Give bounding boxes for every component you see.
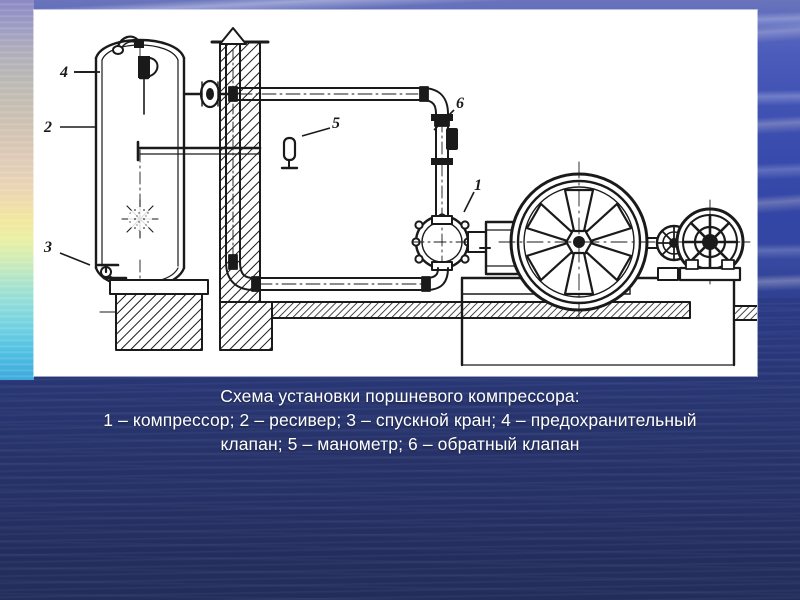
callout-3: 3 <box>43 239 52 256</box>
caption-line-3: клапан; 5 – манометр; 6 – обратный клапа… <box>0 432 800 456</box>
tank-pedestal <box>100 280 208 350</box>
compressor-installation-drawing: 4 2 3 5 6 1 <box>34 10 757 376</box>
callout-6: 6 <box>456 95 464 112</box>
floor-slab <box>260 302 690 318</box>
pressure-gauge-5 <box>282 138 297 168</box>
caption-line-1: Схема установки поршневого компрессора: <box>0 384 800 408</box>
callout-4: 4 <box>59 64 68 81</box>
foundation-wall-lower <box>220 302 272 350</box>
drain-cock-3 <box>98 265 126 278</box>
background-left-strip-ripples <box>0 0 34 380</box>
compressor-valve-chest <box>412 212 486 272</box>
slide: 4 2 3 5 6 1 Схема установки поршневого к… <box>0 0 800 600</box>
figure-panel: 4 2 3 5 6 1 <box>34 10 757 376</box>
caption-line-2: 1 – компрессор; 2 – ресивер; 3 – спускно… <box>0 408 800 432</box>
callout-5: 5 <box>332 115 340 132</box>
callout-1: 1 <box>474 177 482 194</box>
lower-suction-pipe <box>252 268 448 291</box>
flywheel <box>499 162 659 322</box>
tank-internal-detail <box>122 200 158 238</box>
upper-discharge-pipe <box>234 87 448 114</box>
check-valve-6 <box>446 128 458 150</box>
safety-valve-4 <box>113 37 158 114</box>
caption: Схема установки поршневого компрессора: … <box>0 384 800 456</box>
motor-driving-wheel <box>658 200 750 284</box>
right-exit-pipe <box>734 298 757 328</box>
callout-2: 2 <box>43 119 52 136</box>
